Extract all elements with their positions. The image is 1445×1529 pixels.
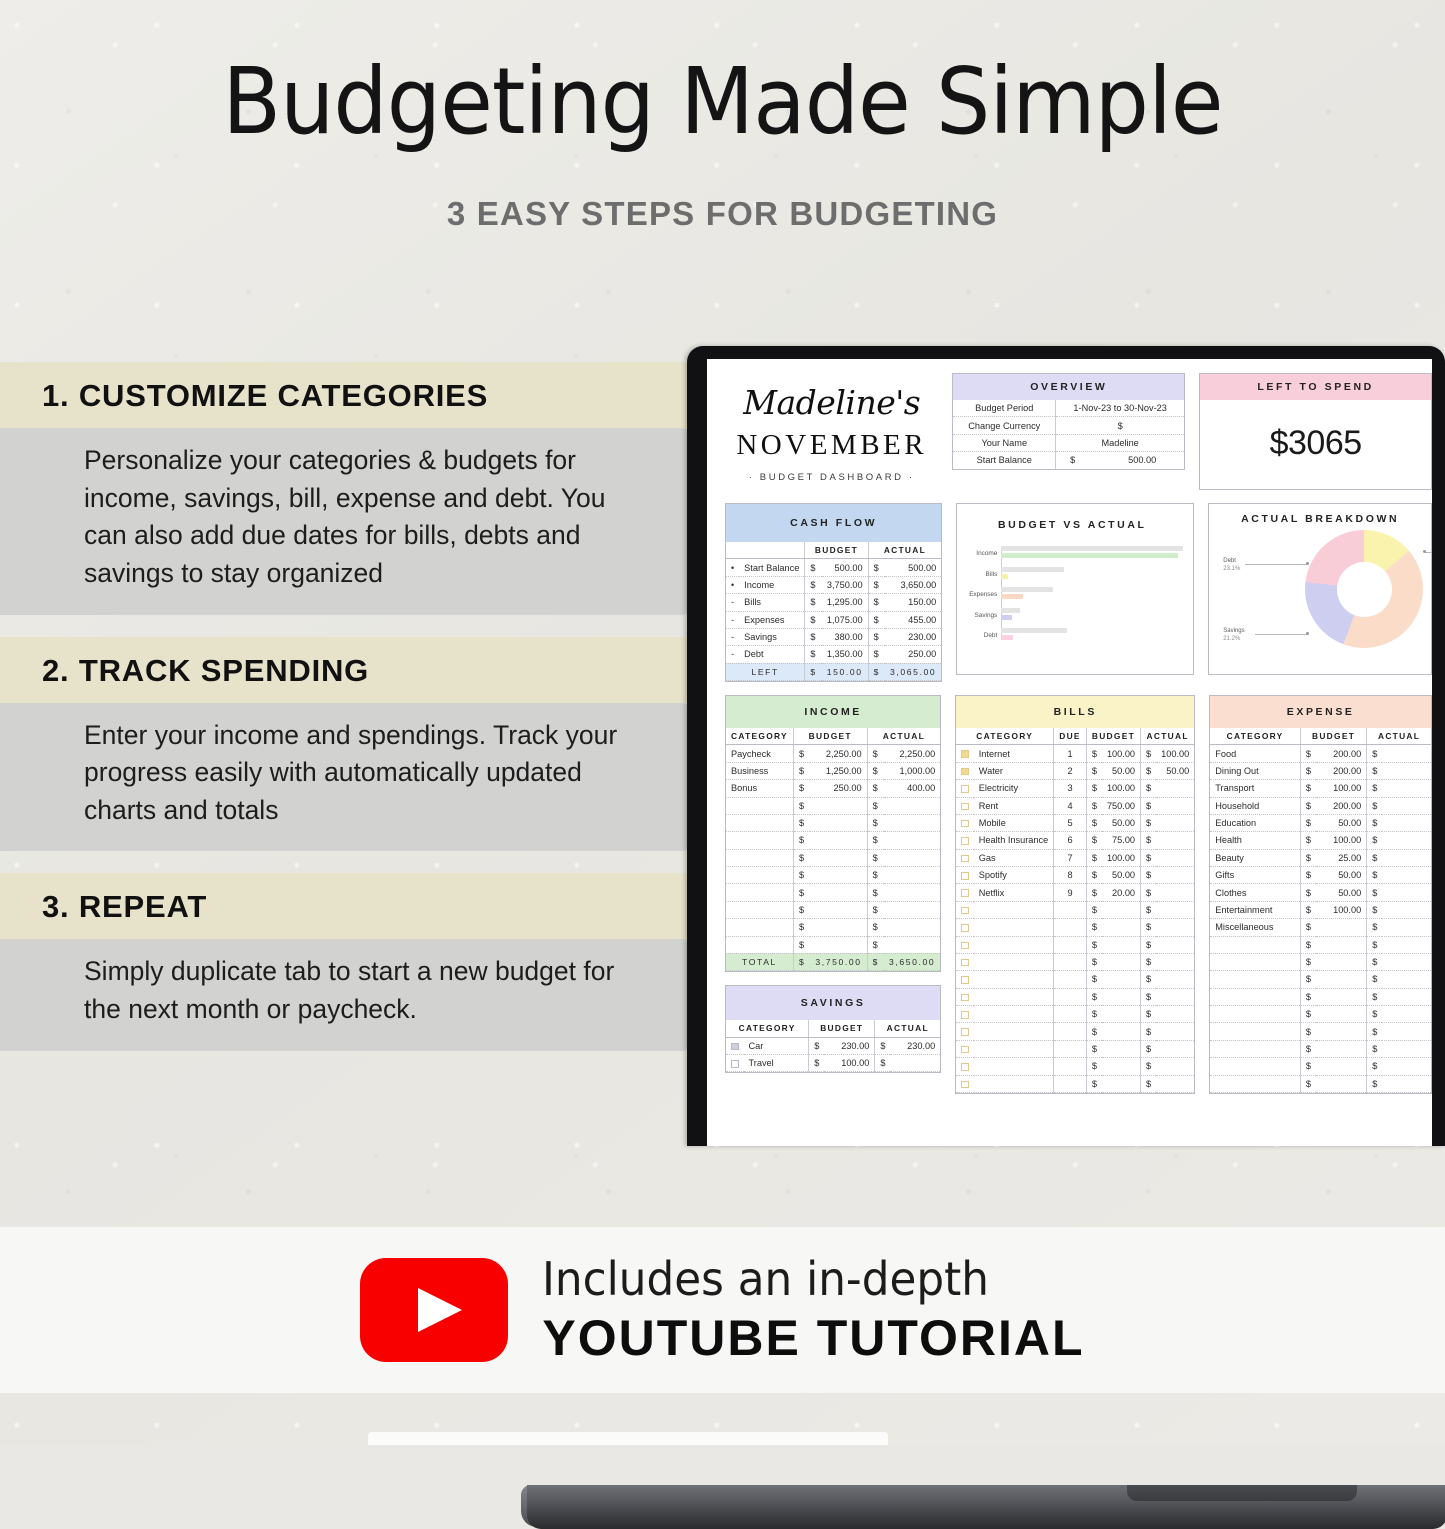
table-row[interactable]: Health$100.00$ [1210, 832, 1431, 849]
table-row[interactable]: Budget Period 1-Nov-23 to 30-Nov-23 [953, 400, 1184, 417]
due-value[interactable]: 1 [1054, 745, 1087, 762]
budget-value[interactable] [1316, 953, 1367, 970]
actual-value[interactable] [1156, 832, 1194, 849]
actual-value[interactable] [1382, 953, 1431, 970]
actual-value[interactable] [1156, 797, 1194, 814]
budget-value[interactable]: 750.00 [1102, 797, 1141, 814]
table-row[interactable]: $$ [726, 884, 940, 901]
actual-value[interactable] [1382, 849, 1431, 866]
step-heading: 2. TRACK SPENDING [0, 637, 690, 703]
actual-value[interactable] [1382, 762, 1431, 779]
budget-value[interactable]: 100.00 [1102, 849, 1141, 866]
bill-checkbox[interactable] [956, 745, 974, 762]
due-value[interactable] [1054, 1023, 1087, 1040]
row-label[interactable] [974, 1058, 1054, 1075]
due-value[interactable]: 9 [1054, 884, 1087, 901]
actual-value[interactable] [1382, 832, 1431, 849]
table-row[interactable]: Paycheck$2,250.00$2,250.00 [726, 745, 940, 762]
actual-value[interactable]: 455.00 [885, 611, 941, 628]
actual-value[interactable] [1156, 1023, 1194, 1040]
actual-value[interactable] [884, 884, 940, 901]
budget-value[interactable]: 3,750.00 [822, 576, 868, 593]
actual-value[interactable] [1156, 971, 1194, 988]
budget-value[interactable]: 1,250.00 [810, 762, 867, 779]
budget-value[interactable]: 230.00 [824, 1037, 874, 1054]
savings-table: CATEGORY BUDGET ACTUAL Car$230.00$230.00… [726, 1020, 940, 1072]
bill-checkbox[interactable] [956, 1023, 974, 1040]
table-row[interactable]: Health Insurance6$75.00$ [956, 832, 1194, 849]
actual-value[interactable]: 100.00 [1156, 745, 1194, 762]
actual-value[interactable]: 150.00 [885, 594, 941, 611]
table-row[interactable]: - Savings $ 380.00 $ 230.00 [726, 628, 941, 645]
savings-card[interactable]: SAVINGS CATEGORY BUDGET ACTUAL Car$230.0… [725, 985, 941, 1073]
budget-value[interactable] [810, 901, 867, 918]
budget-value[interactable] [810, 814, 867, 831]
actual-value[interactable] [890, 1055, 940, 1072]
table-row[interactable]: Rent4$750.00$ [956, 797, 1194, 814]
actual-value[interactable] [884, 832, 940, 849]
table-row[interactable]: $$ [956, 1023, 1194, 1040]
budget-value[interactable] [1316, 1006, 1367, 1023]
row-label[interactable] [974, 936, 1054, 953]
table-row[interactable]: $$ [1210, 1040, 1431, 1057]
actual-value[interactable]: 230.00 [885, 628, 941, 645]
actual-value[interactable]: 3,650.00 [885, 576, 941, 593]
table-row[interactable]: Clothes$50.00$ [1210, 884, 1431, 901]
actual-value[interactable] [884, 867, 940, 884]
actual-value[interactable]: 250.00 [885, 646, 941, 663]
budget-value[interactable]: 75.00 [1102, 832, 1141, 849]
budget-value[interactable] [1102, 1023, 1141, 1040]
savings-checkbox[interactable] [726, 1037, 744, 1054]
bills-card[interactable]: BILLS CATEGORY DUE BUDGET ACTUAL Interne… [955, 695, 1195, 1094]
bill-checkbox[interactable] [956, 971, 974, 988]
actual-value[interactable] [884, 919, 940, 936]
row-label[interactable]: Business [726, 762, 793, 779]
actual-value[interactable] [1156, 867, 1194, 884]
actual-value[interactable] [1156, 953, 1194, 970]
actual-value[interactable] [1156, 1006, 1194, 1023]
actual-value[interactable] [1156, 936, 1194, 953]
row-label[interactable] [974, 1006, 1054, 1023]
due-value[interactable] [1054, 936, 1087, 953]
row-label[interactable] [1210, 988, 1300, 1005]
bill-checkbox[interactable] [956, 1075, 974, 1092]
due-value[interactable]: 8 [1054, 867, 1087, 884]
actual-value[interactable]: 400.00 [884, 780, 940, 797]
budget-value[interactable] [1102, 901, 1141, 918]
row-label[interactable] [726, 867, 793, 884]
row-label[interactable]: Beauty [1210, 849, 1300, 866]
row-label[interactable]: Spotify [974, 867, 1054, 884]
row-label[interactable]: Internet [974, 745, 1054, 762]
table-row[interactable]: Change Currency $ [953, 417, 1184, 434]
budget-value[interactable] [1102, 1006, 1141, 1023]
budget-value[interactable]: 100.00 [1102, 780, 1141, 797]
row-label[interactable] [1210, 953, 1300, 970]
table-row[interactable]: Mobile5$50.00$ [956, 814, 1194, 831]
actual-value[interactable]: 2,250.00 [884, 745, 940, 762]
budget-value[interactable]: 1,350.00 [822, 646, 868, 663]
row-label[interactable]: Mobile [974, 814, 1054, 831]
bar-label: Debt [961, 632, 997, 639]
row-label[interactable] [726, 901, 793, 918]
table-row[interactable]: Transport$100.00$ [1210, 780, 1431, 797]
due-value[interactable]: 7 [1054, 849, 1087, 866]
table-row[interactable]: $$ [726, 901, 940, 918]
row-label[interactable] [1210, 1023, 1300, 1040]
budget-value[interactable]: 1,295.00 [822, 594, 868, 611]
budget-value[interactable]: 100.00 [1316, 901, 1367, 918]
budget-value[interactable]: 50.00 [1316, 884, 1367, 901]
table-row[interactable]: $$ [726, 797, 940, 814]
budget-value[interactable] [1316, 971, 1367, 988]
row-label[interactable] [974, 919, 1054, 936]
row-label[interactable]: Education [1210, 814, 1300, 831]
budget-value[interactable]: 500.00 [822, 559, 868, 576]
table-row[interactable]: Electricity3$100.00$ [956, 780, 1194, 797]
budget-value[interactable]: 100.00 [1102, 745, 1141, 762]
due-value[interactable] [1054, 1075, 1087, 1092]
bill-checkbox[interactable] [956, 762, 974, 779]
budget-value[interactable]: 20.00 [1102, 884, 1141, 901]
row-label[interactable]: Miscellaneous [1210, 919, 1300, 936]
budget-value[interactable] [1316, 1040, 1367, 1057]
table-row[interactable]: $$ [956, 1006, 1194, 1023]
budget-value[interactable] [1102, 1058, 1141, 1075]
table-row[interactable]: Start Balance $ 500.00 [953, 452, 1184, 469]
actual-value[interactable] [1382, 1075, 1431, 1092]
overview-value[interactable]: 500.00 [1080, 452, 1184, 468]
table-row[interactable]: Spotify8$50.00$ [956, 867, 1194, 884]
table-row[interactable]: $$ [956, 971, 1194, 988]
step-item: 2. TRACK SPENDING Enter your income and … [0, 637, 690, 852]
row-label[interactable] [726, 797, 793, 814]
row-label[interactable]: Dining Out [1210, 762, 1300, 779]
row-label[interactable]: Electricity [974, 780, 1054, 797]
table-row[interactable]: $$ [726, 832, 940, 849]
bill-checkbox[interactable] [956, 867, 974, 884]
actual-value[interactable]: 230.00 [890, 1037, 940, 1054]
actual-value[interactable] [1156, 901, 1194, 918]
row-label[interactable] [1210, 1006, 1300, 1023]
row-label[interactable]: Netflix [974, 884, 1054, 901]
table-row[interactable]: $$ [1210, 1006, 1431, 1023]
table-row[interactable]: - Expenses $ 1,075.00 $ 455.00 [726, 611, 941, 628]
table-row[interactable]: Water2$50.00$50.00 [956, 762, 1194, 779]
bill-checkbox[interactable] [956, 1058, 974, 1075]
table-row[interactable]: Education$50.00$ [1210, 814, 1431, 831]
table-row[interactable]: $$ [1210, 988, 1431, 1005]
actual-value[interactable] [1382, 919, 1431, 936]
row-label[interactable] [726, 814, 793, 831]
budget-value[interactable]: 100.00 [1316, 832, 1367, 849]
row-label[interactable] [726, 936, 793, 953]
table-row[interactable]: $$ [1210, 936, 1431, 953]
income-card[interactable]: INCOME CATEGORY BUDGET ACTUAL Paycheck$2… [725, 695, 941, 972]
actual-value[interactable] [1382, 971, 1431, 988]
due-value[interactable] [1054, 953, 1087, 970]
row-label[interactable]: Entertainment [1210, 901, 1300, 918]
table-row[interactable]: Gifts$50.00$ [1210, 867, 1431, 884]
row-label[interactable] [1210, 1040, 1300, 1057]
row-label[interactable] [1210, 1058, 1300, 1075]
table-row[interactable]: $$ [956, 1075, 1194, 1092]
row-label[interactable] [974, 901, 1054, 918]
youtube-play-icon[interactable] [360, 1258, 508, 1362]
expense-card[interactable]: EXPENSE CATEGORY BUDGET ACTUAL Food$200.… [1209, 695, 1432, 1094]
budget-value[interactable]: 50.00 [1102, 814, 1141, 831]
table-row[interactable]: $$ [1210, 1075, 1431, 1092]
actual-value[interactable] [1156, 780, 1194, 797]
row-label[interactable] [1210, 971, 1300, 988]
budget-value[interactable]: 200.00 [1316, 745, 1367, 762]
row-label[interactable]: Clothes [1210, 884, 1300, 901]
due-value[interactable] [1054, 1040, 1087, 1057]
table-row[interactable]: $$ [1210, 953, 1431, 970]
brand-month: NOVEMBER [725, 429, 938, 462]
table-row[interactable]: Gas7$100.00$ [956, 849, 1194, 866]
row-label[interactable]: Gifts [1210, 867, 1300, 884]
table-row[interactable]: Car$230.00$230.00 [726, 1037, 940, 1054]
actual-value[interactable] [1382, 1058, 1431, 1075]
budget-value[interactable] [810, 884, 867, 901]
budget-value[interactable]: 250.00 [810, 780, 867, 797]
row-label[interactable]: Paycheck [726, 745, 793, 762]
actual-value[interactable] [1382, 814, 1431, 831]
due-value[interactable] [1054, 1006, 1087, 1023]
row-label[interactable] [726, 919, 793, 936]
row-label[interactable]: Health Insurance [974, 832, 1054, 849]
bill-checkbox[interactable] [956, 1040, 974, 1057]
table-row[interactable]: $$ [956, 1058, 1194, 1075]
table-row[interactable]: Travel$100.00$ [726, 1055, 940, 1072]
actual-value[interactable]: 50.00 [1156, 762, 1194, 779]
budget-value[interactable]: 200.00 [1316, 762, 1367, 779]
row-label[interactable] [726, 849, 793, 866]
table-row[interactable]: Entertainment$100.00$ [1210, 901, 1431, 918]
budget-value[interactable] [810, 936, 867, 953]
budget-value[interactable] [1316, 1023, 1367, 1040]
table-row[interactable]: - Bills $ 1,295.00 $ 150.00 [726, 594, 941, 611]
budget-value[interactable]: 1,075.00 [822, 611, 868, 628]
due-value[interactable]: 4 [1054, 797, 1087, 814]
actual-value[interactable] [1382, 867, 1431, 884]
table-row[interactable]: Your Name Madeline [953, 434, 1184, 451]
table-row[interactable]: $$ [726, 936, 940, 953]
budget-value[interactable] [1102, 936, 1141, 953]
due-value[interactable]: 5 [1054, 814, 1087, 831]
table-row[interactable]: $$ [956, 1040, 1194, 1057]
actual-value[interactable] [1382, 936, 1431, 953]
actual-value[interactable] [1382, 988, 1431, 1005]
budget-value[interactable] [1316, 936, 1367, 953]
row-label[interactable] [974, 1040, 1054, 1057]
actual-value[interactable] [1382, 745, 1431, 762]
due-value[interactable] [1054, 901, 1087, 918]
table-row[interactable]: $$ [1210, 1023, 1431, 1040]
currency-symbol: $ [867, 936, 884, 953]
actual-value[interactable] [1382, 1023, 1431, 1040]
budget-value[interactable] [1316, 919, 1367, 936]
table-row[interactable]: • Income $ 3,750.00 $ 3,650.00 [726, 576, 941, 593]
row-label[interactable]: Car [744, 1037, 809, 1054]
budget-value[interactable] [810, 919, 867, 936]
budget-value[interactable] [1102, 1040, 1141, 1057]
bill-checkbox[interactable] [956, 1006, 974, 1023]
overview-card[interactable]: OVERVIEW Budget Period 1-Nov-23 to 30-No… [952, 373, 1185, 470]
bill-checkbox[interactable] [956, 988, 974, 1005]
budget-value[interactable] [1102, 919, 1141, 936]
bill-checkbox[interactable] [956, 884, 974, 901]
actual-value[interactable] [1382, 1040, 1431, 1057]
bill-checkbox[interactable] [956, 919, 974, 936]
budget-value[interactable] [1316, 1058, 1367, 1075]
due-value[interactable]: 6 [1054, 832, 1087, 849]
row-label[interactable] [974, 988, 1054, 1005]
overview-value[interactable]: 1-Nov-23 to 30-Nov-23 [1056, 400, 1185, 417]
budget-value[interactable] [810, 867, 867, 884]
row-label[interactable]: Food [1210, 745, 1300, 762]
bill-checkbox[interactable] [956, 832, 974, 849]
due-value[interactable] [1054, 988, 1087, 1005]
budget-value[interactable]: 50.00 [1316, 867, 1367, 884]
table-row[interactable]: $$ [956, 936, 1194, 953]
actual-value[interactable] [884, 814, 940, 831]
actual-value[interactable] [1382, 780, 1431, 797]
actual-value[interactable] [884, 849, 940, 866]
table-row[interactable]: - Debt $ 1,350.00 $ 250.00 [726, 646, 941, 663]
table-row[interactable]: $$ [956, 988, 1194, 1005]
row-label[interactable] [726, 832, 793, 849]
budget-value[interactable]: 200.00 [1316, 797, 1367, 814]
table-row[interactable]: Business$1,250.00$1,000.00 [726, 762, 940, 779]
table-row[interactable]: $$ [956, 919, 1194, 936]
budget-value[interactable] [810, 849, 867, 866]
bill-checkbox[interactable] [956, 953, 974, 970]
bill-checkbox[interactable] [956, 849, 974, 866]
row-label[interactable]: Water [974, 762, 1054, 779]
row-label[interactable] [974, 953, 1054, 970]
budget-value[interactable] [1102, 953, 1141, 970]
actual-value[interactable]: 1,000.00 [884, 762, 940, 779]
table-row[interactable]: Internet1$100.00$100.00 [956, 745, 1194, 762]
bill-checkbox[interactable] [956, 936, 974, 953]
actual-value[interactable] [1156, 1058, 1194, 1075]
budget-value[interactable]: 50.00 [1102, 762, 1141, 779]
budget-value[interactable]: 100.00 [824, 1055, 874, 1072]
table-row[interactable]: Miscellaneous$$ [1210, 919, 1431, 936]
due-value[interactable]: 2 [1054, 762, 1087, 779]
table-row[interactable]: $$ [726, 814, 940, 831]
actual-value[interactable] [1382, 1006, 1431, 1023]
budget-value[interactable]: 50.00 [1102, 867, 1141, 884]
actual-value[interactable]: 500.00 [885, 559, 941, 576]
budget-value[interactable]: 25.00 [1316, 849, 1367, 866]
row-label[interactable] [1210, 936, 1300, 953]
actual-value[interactable] [1382, 797, 1431, 814]
overview-value[interactable]: Madeline [1056, 434, 1185, 451]
table-row[interactable]: $$ [956, 901, 1194, 918]
budget-value[interactable] [1316, 988, 1367, 1005]
budget-value[interactable] [1102, 1075, 1141, 1092]
table-row[interactable]: Netflix9$20.00$ [956, 884, 1194, 901]
bill-checkbox[interactable] [956, 901, 974, 918]
bill-checkbox[interactable] [956, 814, 974, 831]
currency-symbol: $ [793, 936, 810, 953]
actual-value[interactable] [1382, 901, 1431, 918]
row-label[interactable] [974, 1023, 1054, 1040]
actual-value[interactable] [1382, 884, 1431, 901]
actual-value[interactable] [1156, 988, 1194, 1005]
budget-value[interactable] [810, 832, 867, 849]
row-label[interactable] [974, 1075, 1054, 1092]
table-row[interactable]: Bonus$250.00$400.00 [726, 780, 940, 797]
actual-value[interactable] [884, 936, 940, 953]
table-row[interactable]: $$ [1210, 1058, 1431, 1075]
actual-value[interactable] [1156, 1075, 1194, 1092]
budget-value[interactable] [1102, 971, 1141, 988]
actual-value[interactable] [1156, 1040, 1194, 1057]
currency-symbol: $ [868, 663, 885, 680]
budget-value[interactable] [810, 797, 867, 814]
due-value[interactable]: 3 [1054, 780, 1087, 797]
actual-value[interactable] [1156, 884, 1194, 901]
table-row[interactable]: Beauty$25.00$ [1210, 849, 1431, 866]
row-label[interactable]: Gas [974, 849, 1054, 866]
budget-value[interactable]: 50.00 [1316, 814, 1367, 831]
due-value[interactable] [1054, 1058, 1087, 1075]
table-row[interactable]: $$ [726, 867, 940, 884]
due-value[interactable] [1054, 919, 1087, 936]
row-label[interactable] [1210, 1075, 1300, 1092]
table-row[interactable]: $$ [726, 849, 940, 866]
row-label[interactable] [726, 884, 793, 901]
actual-value[interactable] [884, 901, 940, 918]
bill-checkbox[interactable] [956, 780, 974, 797]
cash-flow-card[interactable]: CASH FLOW BUDGET ACTUAL • [725, 503, 942, 682]
row-label[interactable]: Household [1210, 797, 1300, 814]
table-row[interactable]: $$ [726, 919, 940, 936]
budget-value[interactable]: 380.00 [822, 628, 868, 645]
row-label[interactable]: Health [1210, 832, 1300, 849]
actual-value[interactable] [1156, 919, 1194, 936]
actual-value[interactable] [1156, 849, 1194, 866]
budget-value[interactable]: 2,250.00 [810, 745, 867, 762]
table-row[interactable]: $$ [956, 953, 1194, 970]
bill-checkbox[interactable] [956, 797, 974, 814]
row-label[interactable] [974, 971, 1054, 988]
table-row[interactable]: Food$200.00$ [1210, 745, 1431, 762]
table-row[interactable]: • Start Balance $ 500.00 $ 500.00 [726, 559, 941, 576]
budget-value[interactable] [1316, 1075, 1367, 1092]
table-row[interactable]: $$ [1210, 971, 1431, 988]
row-label[interactable]: Transport [1210, 780, 1300, 797]
table-row[interactable]: Dining Out$200.00$ [1210, 762, 1431, 779]
actual-value[interactable] [1156, 814, 1194, 831]
budget-value[interactable]: 100.00 [1316, 780, 1367, 797]
budget-spreadsheet[interactable]: Madeline's NOVEMBER · BUDGET DASHBOARD ·… [725, 373, 1432, 1094]
overview-value[interactable]: $ [1056, 417, 1185, 434]
row-label[interactable]: Bonus [726, 780, 793, 797]
budget-value[interactable] [1102, 988, 1141, 1005]
savings-checkbox[interactable] [726, 1055, 744, 1072]
due-value[interactable] [1054, 971, 1087, 988]
row-label[interactable]: Rent [974, 797, 1054, 814]
row-label[interactable]: Travel [744, 1055, 809, 1072]
actual-value[interactable] [884, 797, 940, 814]
table-row[interactable]: Household$200.00$ [1210, 797, 1431, 814]
